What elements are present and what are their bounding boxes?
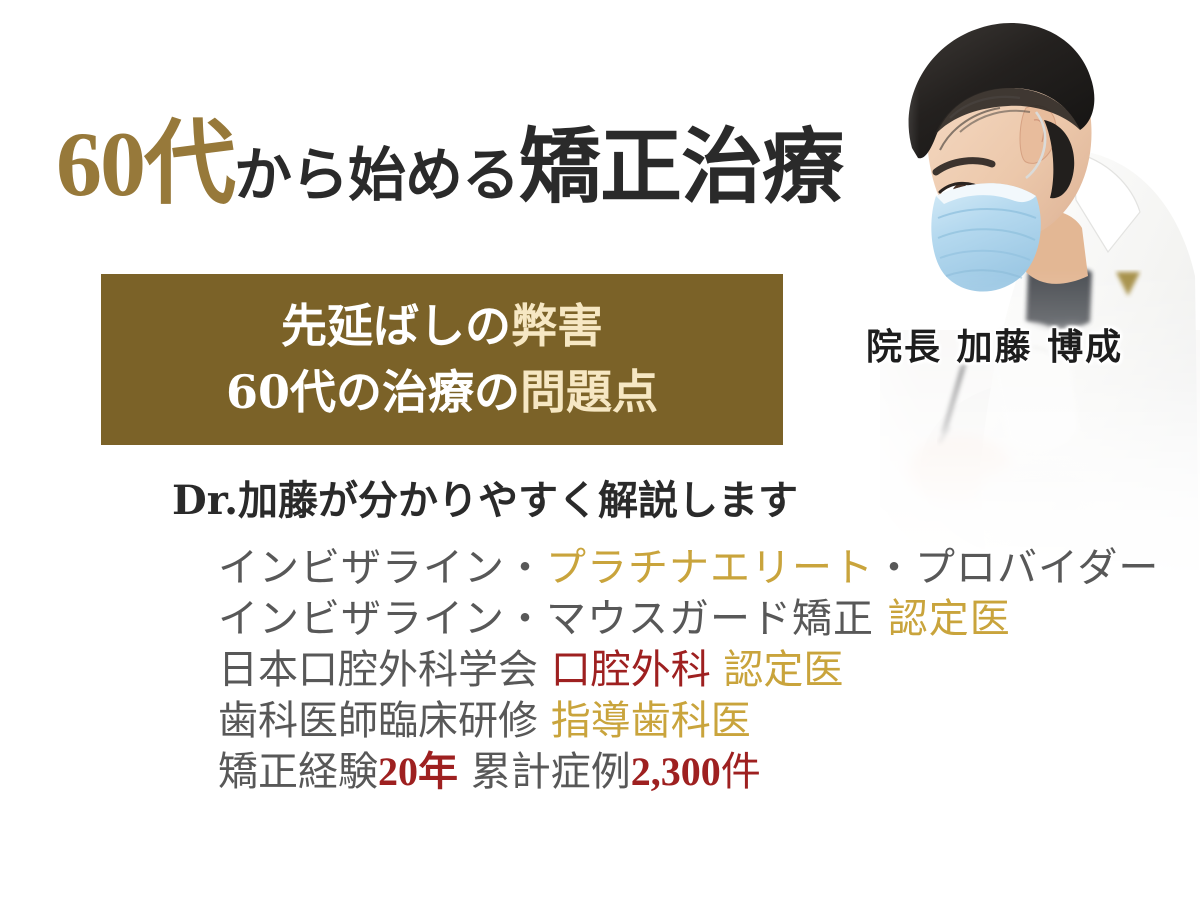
credential-segment: 指導歯科医 <box>551 698 751 744</box>
credential-segment: 矯正経験 <box>218 749 378 795</box>
credential-segment: 認定医 <box>711 647 844 693</box>
topic-line-2-highlight: 問題点 <box>520 365 658 419</box>
topic-line-2-plain: 60代の治療の <box>226 365 520 419</box>
credential-line: 日本口腔外科学会 口腔外科 認定医 <box>218 650 1188 690</box>
credential-segment: プラチナエリート <box>546 545 874 591</box>
headline-middle: から始める <box>234 141 519 209</box>
credential-segment: 件 <box>721 749 761 795</box>
credential-segment: 累計症例 <box>458 749 631 795</box>
topic-line-1-plain: 先延ばしの <box>281 299 511 353</box>
credential-segment: 認定医 <box>888 596 1011 642</box>
headline-age: 60代 <box>56 113 234 215</box>
poster-canvas: 60代から始める矯正治療 先延ばしの弊害 60代の治療の問題点 Dr.加藤が分か… <box>0 0 1200 900</box>
credential-segment: 20年 <box>378 749 458 794</box>
credentials-list: インビザライン・プラチナエリート・プロバイダーインビザライン・マウスガード矯正 … <box>218 548 1188 803</box>
credential-line: インビザライン・プラチナエリート・プロバイダー <box>218 548 1188 588</box>
credential-segment: インビザライン・ <box>218 545 546 591</box>
headline-treatment: 矯正治療 <box>519 119 843 215</box>
credential-segment: 2,300 <box>631 749 721 794</box>
credential-line: 歯科医師臨床研修 指導歯科医 <box>218 701 1188 741</box>
topic-line-1-highlight: 弊害 <box>511 299 603 353</box>
credential-segment: 歯科医師臨床研修 <box>218 698 551 744</box>
credential-segment: ・プロバイダー <box>874 545 1159 591</box>
credential-line: 矯正経験20年 累計症例2,300件 <box>218 752 1188 792</box>
page-title: 60代から始める矯正治療 <box>56 118 843 210</box>
subtitle: Dr.加藤が分かりやすく解説します <box>172 468 798 526</box>
credential-line: インビザライン・マウスガード矯正 認定医 <box>218 599 1188 639</box>
doctor-name-label: 院長 加藤 博成 <box>866 318 1123 370</box>
credential-segment: 口腔外科 <box>551 647 711 693</box>
topic-box: 先延ばしの弊害 60代の治療の問題点 <box>101 274 783 445</box>
credential-segment: インビザライン・マウスガード矯正 <box>218 596 888 642</box>
topic-line-1: 先延ばしの弊害 <box>281 294 603 359</box>
credential-segment: 日本口腔外科学会 <box>218 647 551 693</box>
topic-line-2: 60代の治療の問題点 <box>226 360 658 425</box>
